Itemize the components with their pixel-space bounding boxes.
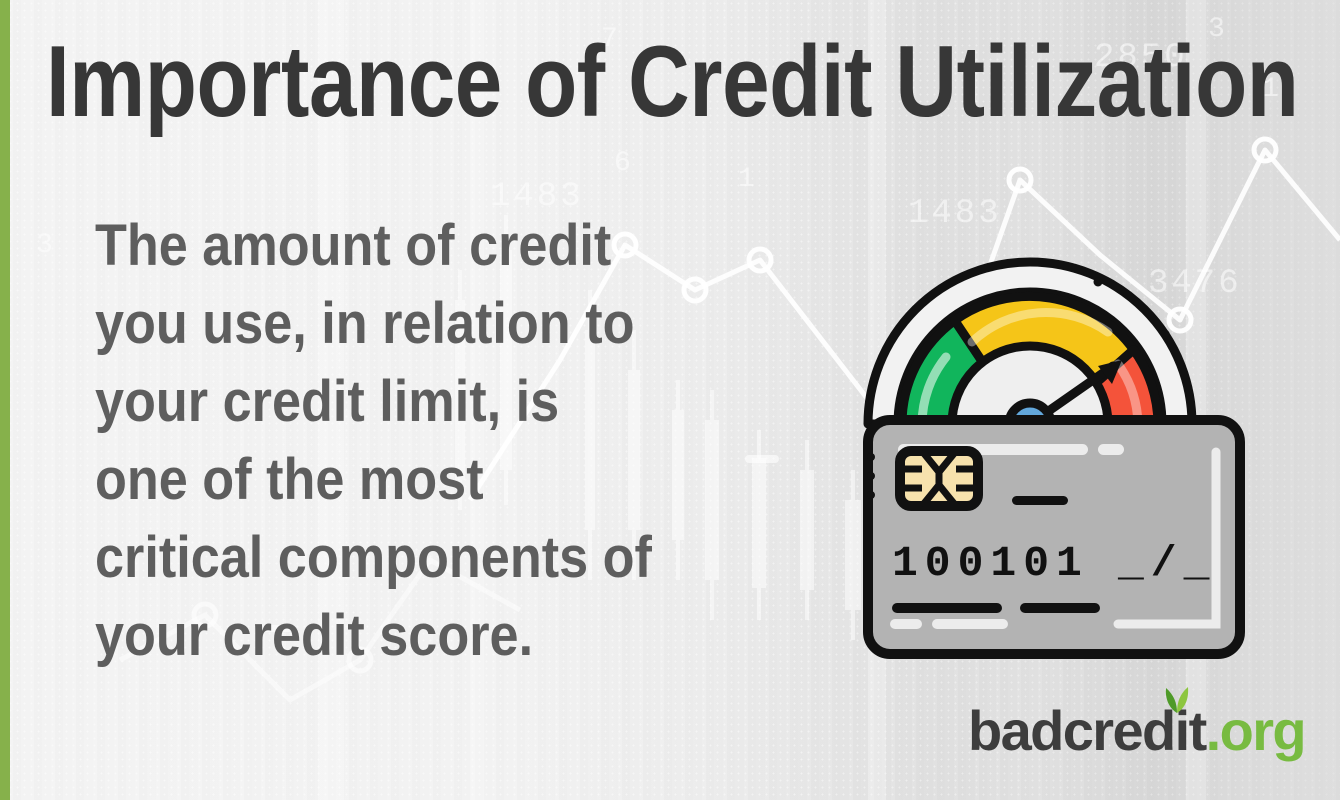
credit-card: 100101 _/_ [867, 420, 1240, 654]
body-line: The amount of credit [95, 207, 671, 285]
brand-logo-tld: .org [1206, 699, 1305, 762]
card-masked-dash [1012, 496, 1068, 505]
svg-text:3: 3 [36, 230, 56, 261]
body-line: critical components of [95, 519, 671, 597]
card-chip [900, 451, 978, 506]
svg-text:1: 1 [738, 164, 758, 195]
page-title: Importance of Credit Utilization [46, 32, 1060, 133]
body-line: one of the most [95, 441, 671, 519]
svg-text:6: 6 [614, 148, 634, 179]
infographic-card: 2850 1483 1483 3476 7 3 1 6 1 3 [0, 0, 1340, 800]
body-line: you use, in relation to [95, 285, 671, 363]
card-number: 100101 [892, 539, 1089, 588]
svg-text:1483: 1483 [908, 195, 1002, 233]
body-line: your credit limit, is [95, 363, 671, 441]
body-line: your credit score. [95, 597, 671, 675]
left-accent-rail [0, 0, 10, 800]
card-expiry: _/_ [1117, 539, 1216, 588]
credit-card-gauge-illustration: 100101 _/_ [860, 238, 1264, 662]
leaf-icon [1164, 687, 1190, 713]
card-bottom-rules [892, 603, 1100, 613]
brand-logo[interactable]: badcredit.org [968, 703, 1305, 759]
body-paragraph: The amount of credit you use, in relatio… [95, 207, 671, 675]
